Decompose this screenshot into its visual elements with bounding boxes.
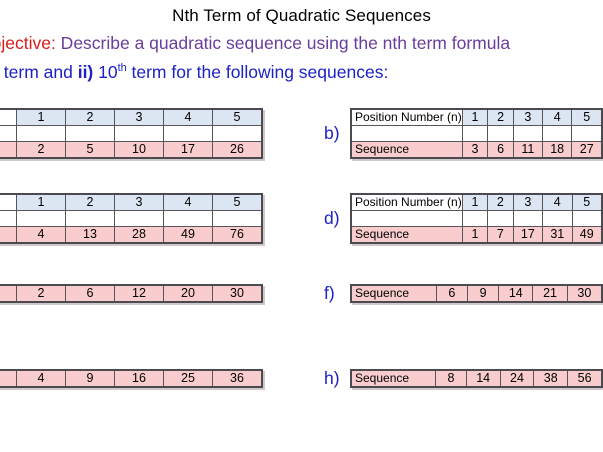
sequence-cell: 6 — [436, 285, 467, 302]
sequence-cell: 4 — [17, 370, 66, 387]
sequence-row-label: Sequence — [351, 370, 436, 387]
sequence-cell: 6 — [488, 142, 514, 159]
sequence-cell: 38 — [534, 370, 568, 387]
position-cell: 5 — [572, 109, 602, 126]
sequence-cell: 14 — [499, 285, 533, 302]
objective-text: Describe a quadratic sequence using the … — [56, 33, 510, 53]
working-cell[interactable] — [213, 126, 263, 142]
sequence-cell: 25 — [164, 370, 213, 387]
position-row-label: Position Number (n) — [351, 194, 462, 211]
sequence-cell: 30 — [567, 285, 602, 302]
sequence-cell: 11 — [513, 142, 542, 159]
position-cell: 2 — [488, 194, 513, 211]
working-row[interactable] — [351, 126, 602, 142]
sequence-row: 25101726 — [0, 142, 262, 159]
sequence-row-label: Sequence — [351, 227, 462, 244]
objective-label: Objective: — [0, 33, 56, 53]
sequence-cell: 36 — [213, 370, 263, 387]
task-ordinal-suffix: th — [118, 62, 127, 74]
position-cell: 1 — [17, 194, 66, 211]
sequence-cell: 1 — [462, 227, 487, 244]
position-row-label: Position Number (n) — [351, 109, 462, 126]
task-suffix: term for the following sequences: — [127, 62, 389, 82]
position-cell: 2 — [488, 109, 514, 126]
working-cell[interactable] — [462, 211, 487, 227]
page-title: Nth Term of Quadratic Sequences — [0, 6, 603, 26]
working-cell[interactable] — [543, 211, 572, 227]
working-cell[interactable] — [17, 126, 66, 142]
sequence-cell: 76 — [213, 227, 263, 244]
sequence-row: 413284976 — [0, 227, 262, 244]
question-block-d: d)Position Number (n)12345Sequence171731… — [322, 193, 603, 244]
working-cell[interactable] — [115, 126, 164, 142]
position-row: 12345 — [0, 194, 262, 211]
question-block-a: a)1234525101726 — [0, 108, 263, 159]
sequence-table: Sequence814243856 — [350, 369, 603, 388]
position-cell: 3 — [115, 109, 164, 126]
sequence-row-label — [0, 285, 17, 302]
sequence-cell: 49 — [164, 227, 213, 244]
sequence-cell: 31 — [543, 227, 572, 244]
sequence-row-label — [0, 370, 17, 387]
position-cell: 4 — [543, 194, 572, 211]
question-letter: d) — [322, 208, 350, 229]
working-cell[interactable] — [572, 126, 602, 142]
working-cell[interactable] — [488, 211, 513, 227]
sequence-cell: 5 — [66, 142, 115, 159]
position-row: 12345 — [0, 109, 262, 126]
position-cell: 2 — [66, 194, 115, 211]
position-cell: 3 — [115, 194, 164, 211]
question-block-b: b)Position Number (n)12345Sequence361118… — [322, 108, 603, 159]
working-cell[interactable] — [115, 211, 164, 227]
task-line: i) nth term and ii) 10th term for the fo… — [0, 62, 388, 83]
position-cell: 4 — [542, 109, 572, 126]
sequence-cell: 7 — [488, 227, 513, 244]
working-cell[interactable] — [513, 211, 542, 227]
sequence-cell: 14 — [466, 370, 500, 387]
sequence-table: 49162536 — [0, 369, 263, 388]
sequence-cell: 56 — [568, 370, 602, 387]
sequence-cell: 20 — [164, 285, 213, 302]
sequence-table: Position Number (n)12345Sequence17173149 — [350, 193, 603, 244]
sequence-cell: 13 — [66, 227, 115, 244]
position-cell: 1 — [17, 109, 66, 126]
working-row[interactable] — [0, 126, 262, 142]
sequence-cell: 24 — [500, 370, 534, 387]
position-cell: 4 — [164, 109, 213, 126]
sequence-cell: 17 — [513, 227, 542, 244]
sequence-row: Sequence17173149 — [351, 227, 602, 244]
sequence-cell: 49 — [572, 227, 602, 244]
sequence-table: 1234525101726 — [0, 108, 263, 159]
objective-line: Objective: Describe a quadratic sequence… — [0, 33, 510, 54]
sequence-table: 26122030 — [0, 284, 263, 303]
position-cell: 1 — [462, 194, 487, 211]
sequence-cell: 4 — [17, 227, 66, 244]
sequence-cell: 12 — [115, 285, 164, 302]
question-letter: f) — [322, 283, 350, 304]
question-letter: b) — [322, 123, 350, 144]
sequence-cell: 2 — [17, 142, 66, 159]
working-cell[interactable] — [462, 126, 488, 142]
working-cell[interactable] — [542, 126, 572, 142]
working-cell[interactable] — [164, 126, 213, 142]
working-cell[interactable] — [488, 126, 514, 142]
sequence-cell: 9 — [467, 285, 498, 302]
working-row-label[interactable] — [0, 126, 17, 142]
sequence-row: Sequence69142130 — [351, 285, 602, 302]
position-cell: 5 — [213, 194, 263, 211]
working-row-label[interactable] — [351, 211, 462, 227]
sequence-cell: 27 — [572, 142, 602, 159]
working-cell[interactable] — [572, 211, 602, 227]
sequence-row-label: Sequence — [351, 285, 436, 302]
position-row: Position Number (n)12345 — [351, 109, 602, 126]
position-row: Position Number (n)12345 — [351, 194, 602, 211]
sequence-cell: 18 — [542, 142, 572, 159]
sequence-row-label — [0, 142, 17, 159]
sequence-table: Sequence69142130 — [350, 284, 603, 303]
sequence-table: 12345413284976 — [0, 193, 263, 244]
sequence-cell: 17 — [164, 142, 213, 159]
working-cell[interactable] — [164, 211, 213, 227]
position-cell: 2 — [66, 109, 115, 126]
question-block-e: e)26122030 — [0, 283, 263, 304]
task-mid: 10 — [93, 62, 117, 82]
sequence-cell: 10 — [115, 142, 164, 159]
working-cell[interactable] — [66, 211, 115, 227]
sequence-table: Position Number (n)12345Sequence36111827 — [350, 108, 603, 159]
working-cell[interactable] — [66, 126, 115, 142]
question-letter: h) — [322, 368, 350, 389]
sequence-cell: 8 — [436, 370, 467, 387]
sequence-row-label: Sequence — [351, 142, 462, 159]
question-block-h: h)Sequence814243856 — [322, 368, 603, 389]
sequence-cell: 21 — [533, 285, 567, 302]
position-cell: 3 — [513, 109, 542, 126]
question-block-f: f)Sequence69142130 — [322, 283, 603, 304]
working-cell[interactable] — [17, 211, 66, 227]
position-row-label — [0, 109, 17, 126]
sequence-cell: 9 — [66, 370, 115, 387]
position-cell: 5 — [572, 194, 602, 211]
sequence-row: Sequence36111827 — [351, 142, 602, 159]
sequence-cell: 6 — [66, 285, 115, 302]
position-cell: 3 — [513, 194, 542, 211]
working-row[interactable] — [351, 211, 602, 227]
sequence-cell: 28 — [115, 227, 164, 244]
task-prefix: i) nth term and — [0, 62, 78, 82]
question-block-g: g)49162536 — [0, 368, 263, 389]
task-bold-marker: ii) — [78, 62, 94, 82]
working-cell[interactable] — [213, 211, 263, 227]
working-row[interactable] — [0, 211, 262, 227]
sequence-cell: 2 — [17, 285, 66, 302]
working-row-label[interactable] — [0, 211, 17, 227]
sequence-row: Sequence814243856 — [351, 370, 602, 387]
sequence-row-label — [0, 227, 17, 244]
working-cell[interactable] — [513, 126, 542, 142]
working-row-label[interactable] — [351, 126, 462, 142]
position-cell: 5 — [213, 109, 263, 126]
sequence-cell: 3 — [462, 142, 488, 159]
sequence-row: 26122030 — [0, 285, 262, 302]
sequence-cell: 30 — [213, 285, 263, 302]
position-cell: 4 — [164, 194, 213, 211]
sequence-row: 49162536 — [0, 370, 262, 387]
position-row-label — [0, 194, 17, 211]
sequence-cell: 26 — [213, 142, 263, 159]
position-cell: 1 — [462, 109, 488, 126]
question-block-c: c)12345413284976 — [0, 193, 263, 244]
sequence-cell: 16 — [115, 370, 164, 387]
